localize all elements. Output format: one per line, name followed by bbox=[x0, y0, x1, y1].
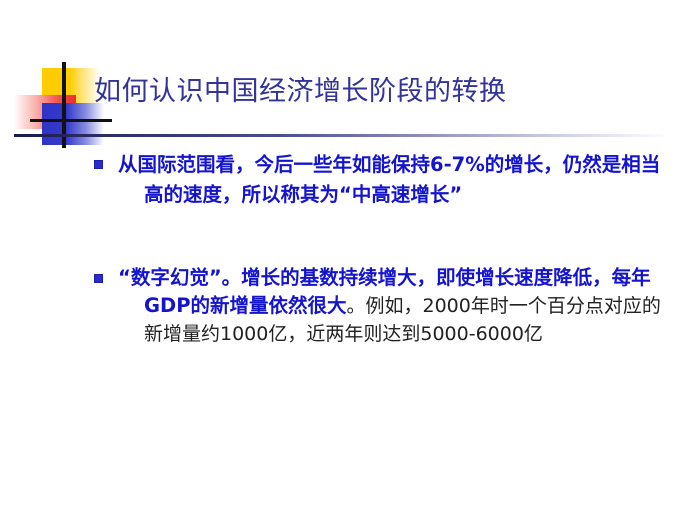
logo-horizontal-bar bbox=[30, 119, 112, 122]
square-bullet-icon bbox=[94, 274, 103, 283]
square-bullet-icon bbox=[94, 160, 103, 169]
bullet-item: “数字幻觉”。增长的基数持续增大，即使增长速度降低，每年GDP的新增量依然很大。… bbox=[0, 264, 680, 348]
slide-body: 从国际范围看，今后一些年如能保持6-7%的增长，仍然是相当高的速度，所以称其为“… bbox=[0, 150, 680, 348]
bullet-item: 从国际范围看，今后一些年如能保持6-7%的增长，仍然是相当高的速度，所以称其为“… bbox=[0, 150, 680, 210]
bullet-text: “数字幻觉”。增长的基数持续增大，即使增长速度降低，每年GDP的新增量依然很大。… bbox=[118, 264, 666, 348]
slide-canvas: 如何认识中国经济增长阶段的转换 从国际范围看，今后一些年如能保持6-7%的增长，… bbox=[0, 0, 680, 510]
slide-title: 如何认识中国经济增长阶段的转换 bbox=[94, 76, 507, 108]
logo-blue-square bbox=[42, 103, 104, 145]
bullet-text: 从国际范围看，今后一些年如能保持6-7%的增长，仍然是相当高的速度，所以称其为“… bbox=[118, 150, 666, 210]
title-divider bbox=[14, 134, 670, 137]
